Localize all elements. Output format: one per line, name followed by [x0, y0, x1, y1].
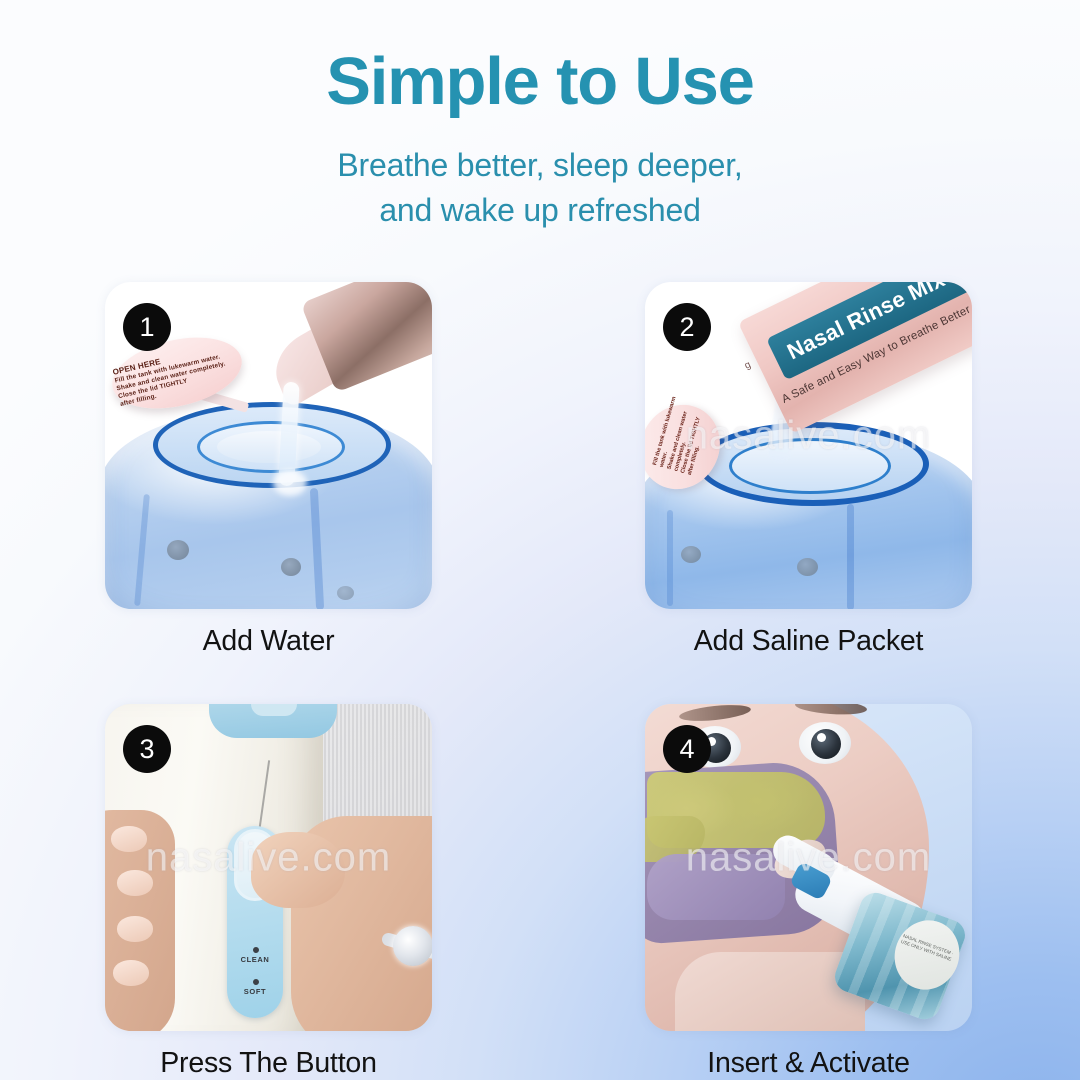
bottle-rib-right	[847, 504, 854, 609]
bottle-dot	[281, 558, 301, 576]
step-1: 1 OPEN HERE Fill the tank with lukewarm …	[105, 282, 432, 658]
infographic-page: Simple to Use Breathe better, sleep deep…	[0, 0, 1080, 1080]
step-3-photo: 3 CLEAN SOFT n	[105, 704, 432, 1031]
step-1-number-badge: 1	[123, 303, 171, 351]
step-4-number-badge: 4	[663, 725, 711, 773]
packet-weight: g	[743, 359, 753, 371]
bottle-dot	[797, 558, 818, 576]
bottle-dot	[681, 546, 701, 563]
step-2-number-badge: 2	[663, 303, 711, 351]
step-4-photo: 4 NASAL RINS	[645, 704, 972, 1031]
fingernail	[117, 916, 153, 942]
step-1-photo: 1 OPEN HERE Fill the tank with lukewarm …	[105, 282, 432, 609]
clean-mode-label: CLEAN	[227, 955, 283, 964]
step-4: 4 NASAL RINS	[645, 704, 972, 1080]
bottle-rim-inner	[729, 438, 891, 494]
iris	[811, 729, 841, 759]
bottle-rib-left	[667, 510, 673, 606]
fingernail	[117, 870, 153, 896]
neck	[675, 952, 865, 1031]
soft-mode-indicator	[253, 979, 259, 985]
clean-mode-indicator	[253, 947, 259, 953]
step-2-photo: 2 Fill the tank with lukewarm water. Sha…	[645, 282, 972, 609]
step-4-caption: Insert & Activate	[645, 1047, 972, 1080]
bottle-dot	[337, 586, 354, 600]
water-splash	[273, 470, 307, 496]
fingernail	[111, 826, 147, 852]
step-3-number-badge: 3	[123, 725, 171, 773]
step-1-caption: Add Water	[105, 625, 432, 658]
soft-mode-label: SOFT	[227, 987, 283, 996]
step-2: 2 Fill the tank with lukewarm water. Sha…	[645, 282, 972, 658]
steps-grid: 1 OPEN HERE Fill the tank with lukewarm …	[105, 282, 985, 1080]
subtitle-line-2: and wake up refreshed	[0, 188, 1080, 233]
page-title: Simple to Use	[0, 48, 1080, 115]
fingernail	[113, 960, 149, 986]
step-2-caption: Add Saline Packet	[645, 625, 972, 658]
step-3-caption: Press The Button	[105, 1047, 432, 1080]
device-tank-notch	[251, 704, 297, 716]
subtitle-line-1: Breathe better, sleep deeper,	[0, 143, 1080, 188]
page-subtitle: Breathe better, sleep deeper, and wake u…	[0, 143, 1080, 234]
nasal-turbinate	[647, 854, 785, 920]
header: Simple to Use Breathe better, sleep deep…	[0, 0, 1080, 234]
eye-highlight	[817, 733, 826, 742]
step-3: 3 CLEAN SOFT n	[105, 704, 432, 1080]
bottle-dot	[167, 540, 189, 560]
diamond-ring	[393, 926, 432, 966]
thumb-pressing-button	[251, 832, 345, 908]
bottle-opening	[217, 431, 321, 463]
